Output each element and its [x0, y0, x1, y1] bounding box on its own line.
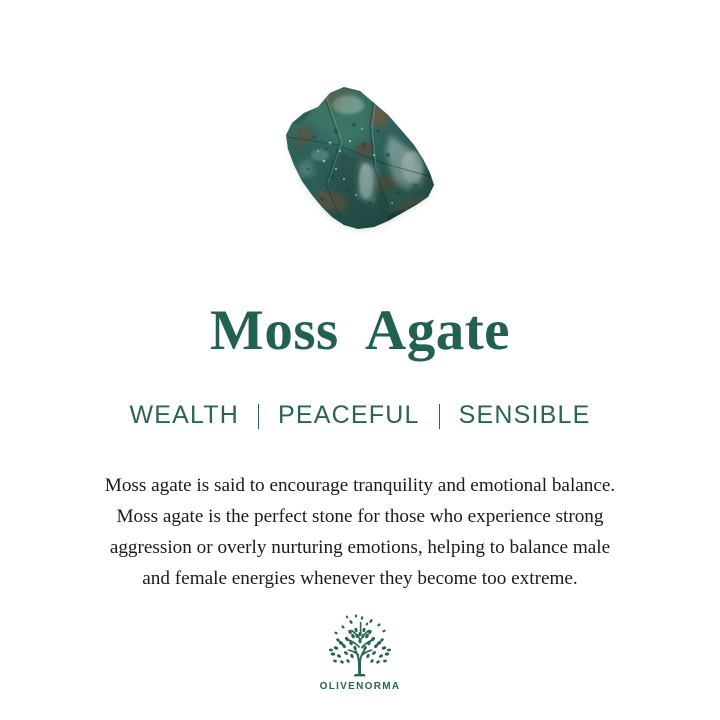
keyword-separator — [439, 404, 440, 429]
stone-illustration — [278, 85, 442, 231]
page-title: Moss Agate — [0, 300, 720, 362]
stone-image-container — [0, 78, 720, 238]
moss-agate-info-card: Moss Agate WEALTH PEACEFUL SENSIBLE Moss… — [0, 0, 720, 720]
description-paragraph: Moss agate is said to encourage tranquil… — [40, 470, 680, 594]
description-line: Moss agate is the perfect stone for thos… — [40, 501, 680, 532]
moss-agate-stone-photo — [278, 85, 442, 231]
brand-logo: OLIVENORMA — [0, 612, 720, 692]
keyword-separator — [258, 404, 259, 429]
keyword-peaceful: PEACEFUL — [278, 401, 420, 430]
brand-name: OLIVENORMA — [320, 681, 401, 692]
description-line: and female energies whenever they become… — [40, 563, 680, 594]
description-line: aggression or overly nurturing emotions,… — [40, 532, 680, 563]
keyword-wealth: WEALTH — [129, 401, 239, 430]
description-line: Moss agate is said to encourage tranquil… — [40, 470, 680, 501]
keyword-list: WEALTH PEACEFUL SENSIBLE — [0, 401, 720, 430]
keyword-sensible: SENSIBLE — [459, 401, 591, 430]
olive-tree-icon — [321, 612, 399, 678]
